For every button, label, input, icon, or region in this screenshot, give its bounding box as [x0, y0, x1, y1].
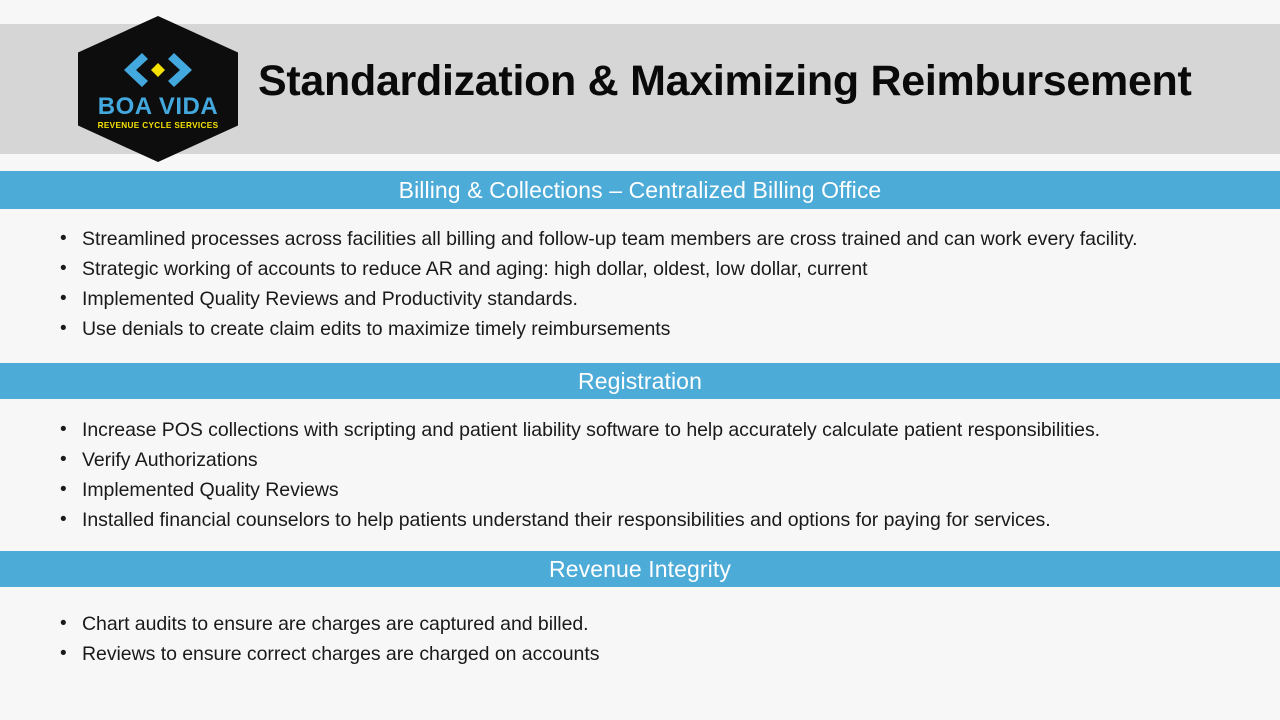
list-item: • Use denials to create claim edits to m…	[0, 314, 1280, 344]
section-header-billing-collections: Billing & Collections – Centralized Bill…	[0, 171, 1280, 209]
list-item-text: Increase POS collections with scripting …	[82, 415, 1256, 445]
bullet-icon: •	[60, 224, 82, 254]
section-header-label: Revenue Integrity	[549, 556, 731, 583]
section-header-label: Billing & Collections – Centralized Bill…	[399, 177, 882, 204]
bullet-icon: •	[60, 445, 82, 475]
bullet-list-registration: • Increase POS collections with scriptin…	[0, 415, 1280, 535]
list-item-text: Streamlined processes across facilities …	[82, 224, 1256, 254]
logo: BOA VIDA REVENUE CYCLE SERVICES	[78, 16, 238, 162]
chevron-diamond-icon	[108, 49, 208, 91]
section-header-label: Registration	[578, 368, 702, 395]
bullet-icon: •	[60, 475, 82, 505]
bullet-icon: •	[60, 609, 82, 639]
section-header-registration: Registration	[0, 363, 1280, 399]
bullet-icon: •	[60, 254, 82, 284]
list-item-text: Verify Authorizations	[82, 445, 1256, 475]
list-item: • Streamlined processes across facilitie…	[0, 224, 1280, 254]
list-item: • Strategic working of accounts to reduc…	[0, 254, 1280, 284]
list-item-text: Reviews to ensure correct charges are ch…	[82, 639, 1256, 669]
list-item-text: Chart audits to ensure are charges are c…	[82, 609, 1256, 639]
slide-canvas: BOA VIDA REVENUE CYCLE SERVICES Standard…	[0, 0, 1280, 720]
list-item-text: Strategic working of accounts to reduce …	[82, 254, 1256, 284]
list-item: • Implemented Quality Reviews and Produc…	[0, 284, 1280, 314]
list-item: • Reviews to ensure correct charges are …	[0, 639, 1280, 669]
bullet-icon: •	[60, 505, 82, 535]
list-item: • Installed financial counselors to help…	[0, 505, 1280, 535]
bullet-icon: •	[60, 284, 82, 314]
list-item-text: Implemented Quality Reviews and Producti…	[82, 284, 1256, 314]
list-item: • Increase POS collections with scriptin…	[0, 415, 1280, 445]
logo-wordmark: BOA VIDA	[98, 95, 218, 119]
bullet-icon: •	[60, 639, 82, 669]
list-item-text: Use denials to create claim edits to max…	[82, 314, 1256, 344]
bullet-icon: •	[60, 415, 82, 445]
list-item: • Verify Authorizations	[0, 445, 1280, 475]
bullet-list-revenue-integrity: • Chart audits to ensure are charges are…	[0, 609, 1280, 669]
list-item-text: Implemented Quality Reviews	[82, 475, 1256, 505]
page-title: Standardization & Maximizing Reimburseme…	[258, 58, 1228, 105]
logo-hexagon-shape: BOA VIDA REVENUE CYCLE SERVICES	[78, 16, 238, 162]
bullet-list-billing-collections: • Streamlined processes across facilitie…	[0, 224, 1280, 344]
logo-tagline: REVENUE CYCLE SERVICES	[98, 122, 219, 130]
bullet-icon: •	[60, 314, 82, 344]
list-item: • Implemented Quality Reviews	[0, 475, 1280, 505]
section-header-revenue-integrity: Revenue Integrity	[0, 551, 1280, 587]
list-item-text: Installed financial counselors to help p…	[82, 505, 1256, 535]
list-item: • Chart audits to ensure are charges are…	[0, 609, 1280, 639]
